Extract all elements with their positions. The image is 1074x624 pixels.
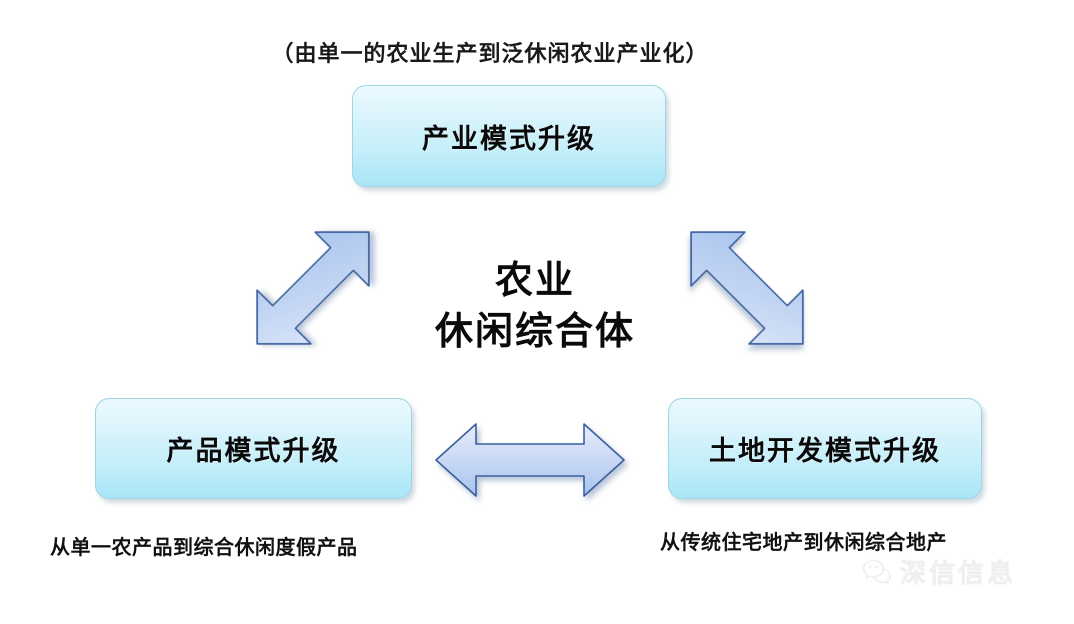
caption-product-model: 从单一农产品到综合休闲度假产品 — [50, 531, 358, 560]
node-box-land-development-model[interactable]: 土地开发模式升级 — [668, 398, 982, 499]
node-box-industry-model[interactable]: 产业模式升级 — [352, 85, 666, 187]
center-title-line-1: 农业 — [390, 255, 680, 306]
watermark: 深信信息 — [862, 553, 1016, 590]
center-title: 农业 休闲综合体 — [390, 255, 680, 358]
node-label: 土地开发模式升级 — [709, 429, 941, 468]
watermark-text: 深信信息 — [900, 553, 1016, 590]
wechat-icon — [862, 558, 892, 586]
double-headed-arrow-up-right-icon — [228, 188, 398, 388]
header-caption: （由单一的农业生产到泛休闲农业产业化） — [0, 36, 980, 68]
double-headed-arrow-up-left-icon — [660, 188, 835, 388]
caption-land-development: 从传统住宅地产到休闲综合地产 — [660, 526, 947, 555]
double-headed-arrow-horizontal-icon — [432, 416, 632, 506]
center-title-line-2: 休闲综合体 — [390, 306, 680, 357]
node-box-product-model[interactable]: 产品模式升级 — [95, 398, 412, 499]
node-label: 产业模式升级 — [422, 117, 596, 156]
node-label: 产品模式升级 — [167, 429, 341, 468]
diagram-canvas: （由单一的农业生产到泛休闲农业产业化） 产业模式升级 产品模式升级 土地开发模式… — [0, 0, 1074, 624]
